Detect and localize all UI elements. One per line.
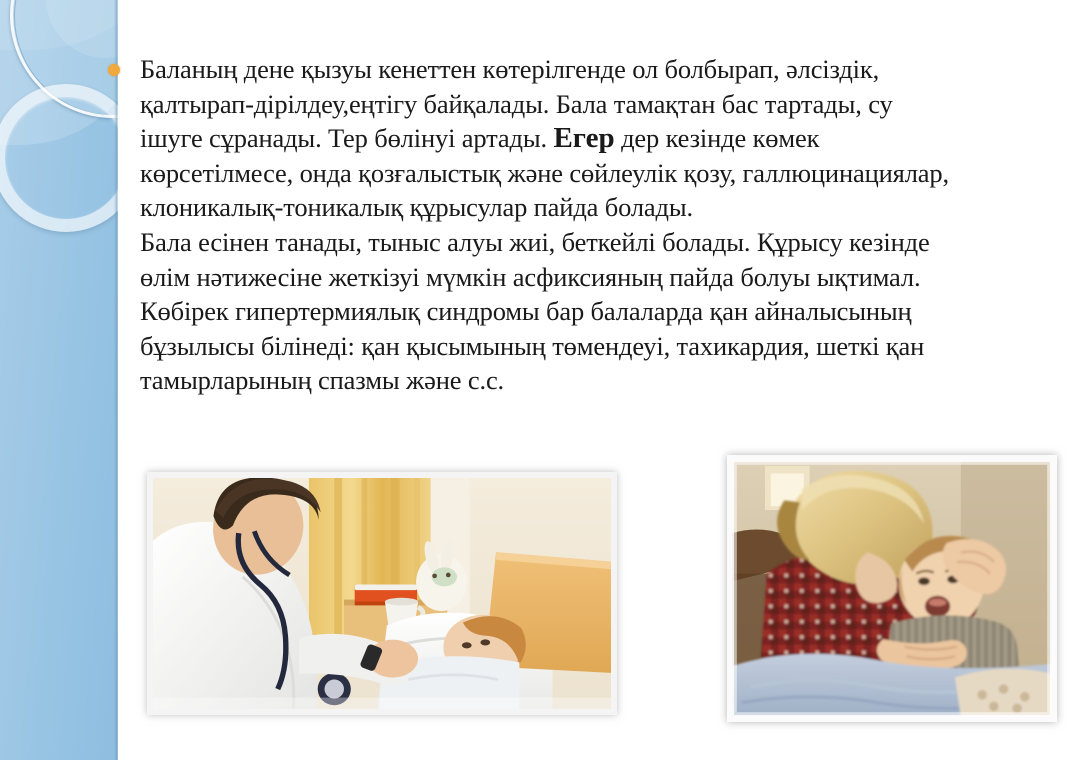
paragraph-3: Көбірек гипертермиялық синдромы бар бала… (140, 294, 960, 398)
slide-body-text: Баланың дене қызуы кенеттен көтерілгенде… (140, 52, 960, 398)
doctor-examining-child-photo (147, 472, 617, 715)
bullet-dot-icon (108, 64, 120, 76)
paragraph-2: Бала есінен танады, тыныс алуы жиі, бетк… (140, 225, 960, 294)
sidebar-large-ring-shape (0, 84, 118, 232)
mother-photo-artwork (732, 460, 1052, 717)
sidebar-edge-line (114, 0, 118, 760)
paragraph-1-emphasis: Егер (553, 122, 614, 154)
mother-comforting-child-photo (727, 455, 1057, 722)
decorative-sidebar (0, 0, 118, 760)
paragraph-3-run-1: Көбірек гипертермиялық синдромы бар бала… (140, 296, 924, 395)
paragraph-1: Баланың дене қызуы кенеттен көтерілгенде… (140, 52, 960, 225)
paragraph-2-run-1: Бала есінен танады, тыныс алуы жиі, бетк… (140, 227, 930, 292)
doctor-photo-artwork (153, 478, 611, 709)
slide-canvas: Баланың дене қызуы кенеттен көтерілгенде… (0, 0, 1080, 760)
